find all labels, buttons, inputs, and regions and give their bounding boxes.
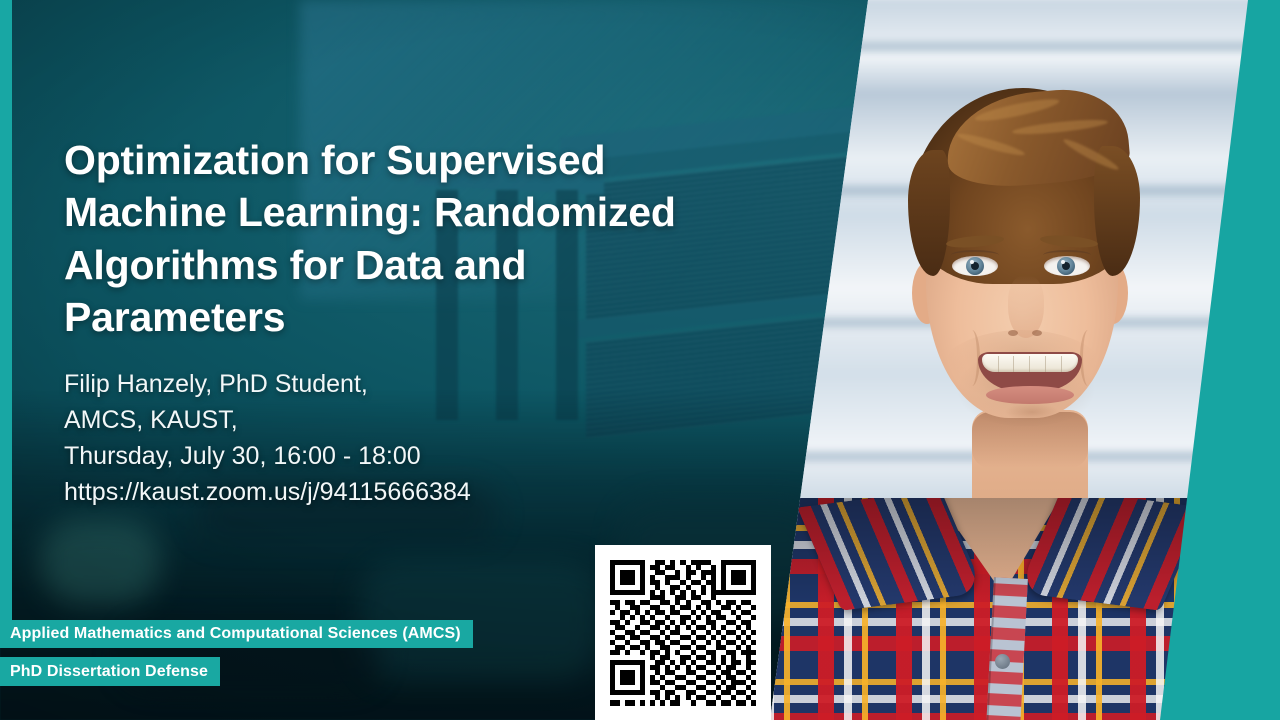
event-type-banner: PhD Dissertation Defense [0, 657, 220, 686]
qr-code-icon[interactable] [610, 560, 756, 706]
lower-lip [986, 386, 1074, 404]
talk-details: Filip Hanzely, PhD Student, AMCS, KAUST,… [64, 366, 704, 510]
left-accent-strip [0, 0, 12, 648]
seminar-poster: Optimization for Supervised Machine Lear… [0, 0, 1280, 720]
nostril-left [1008, 330, 1018, 336]
talk-title: Optimization for Supervised Machine Lear… [64, 134, 764, 344]
eyelid-left [951, 250, 999, 260]
eyelid-right [1043, 250, 1091, 260]
eye-glint-left [970, 260, 974, 264]
department-banner: Applied Mathematics and Computational Sc… [0, 620, 473, 648]
hair-side-left [908, 150, 950, 276]
chin-shading [996, 404, 1068, 424]
nostril-right [1032, 330, 1042, 336]
smile-line-right [1080, 330, 1096, 386]
qr-code-card[interactable] [595, 545, 771, 720]
teeth [982, 354, 1078, 372]
nose [1008, 276, 1044, 338]
eye-glint-right [1061, 260, 1065, 264]
